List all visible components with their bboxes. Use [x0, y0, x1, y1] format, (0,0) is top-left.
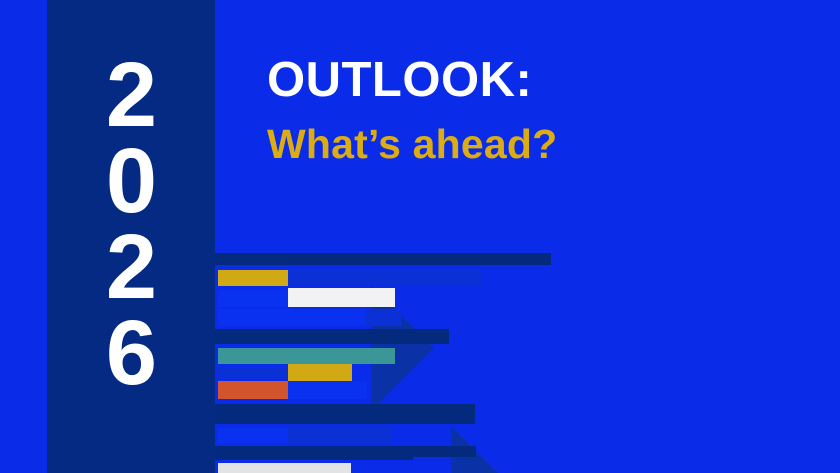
bar-blue-6 [288, 381, 367, 399]
year-band: 2026 [47, 0, 215, 473]
bar-gold-2 [288, 364, 352, 381]
bar-grey-1 [218, 463, 351, 473]
bar-navy-1 [215, 253, 551, 265]
bar-navy-2 [215, 329, 449, 344]
bar-blue-7 [218, 428, 288, 443]
year-digit-0: 2 [106, 52, 156, 138]
bar-navy-5 [413, 446, 476, 457]
bar-blue-1 [288, 270, 481, 286]
headline-block: OUTLOOK: What’s ahead? [267, 55, 557, 168]
bar-blue-2 [218, 290, 288, 307]
bar-navy-4 [215, 446, 413, 460]
bar-gold-1 [218, 270, 288, 286]
page-title: OUTLOOK: [267, 55, 557, 106]
bar-blue-3 [218, 309, 366, 326]
bar-blue-5 [218, 367, 288, 377]
bar-orange-1 [218, 381, 288, 399]
outlook-slide: 2026 OUTLOOK: What’s ahead? [0, 0, 840, 473]
bar-blue-4 [366, 309, 401, 326]
year-digit-2: 2 [106, 224, 156, 310]
year-digit-3: 6 [106, 310, 156, 396]
year-digit-1: 0 [106, 138, 156, 224]
year-digits: 2026 [47, 52, 215, 396]
bar-teal-1 [218, 348, 395, 364]
bar-navy-3 [215, 404, 475, 424]
bar-blue-8 [288, 426, 392, 443]
page-subtitle: What’s ahead? [267, 122, 557, 167]
bar-white-1 [288, 288, 395, 307]
